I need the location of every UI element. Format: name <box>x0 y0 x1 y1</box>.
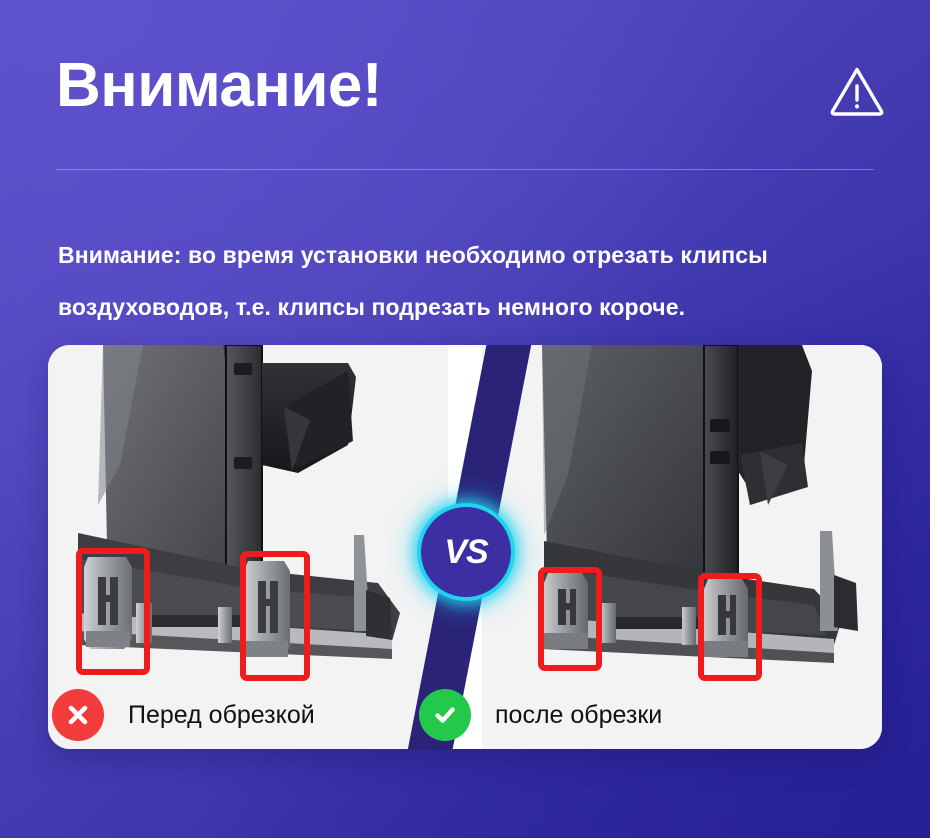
vs-label: VS <box>444 533 487 572</box>
caption-before-label: Перед обрезкой <box>128 701 315 730</box>
page-title: Внимание! <box>56 52 382 120</box>
cross-icon <box>52 689 104 741</box>
check-icon <box>419 689 471 741</box>
caption-after-label: после обрезки <box>495 701 662 730</box>
caption-after: после обрезки <box>419 689 662 741</box>
clip-highlight-box <box>76 548 150 675</box>
clip-highlight-box <box>538 567 602 671</box>
caption-before: Перед обрезкой <box>52 689 315 741</box>
vs-badge: VS <box>417 503 515 601</box>
clip-highlight-box <box>240 551 310 681</box>
clip-highlight-box <box>698 573 762 681</box>
poster-header: Внимание! <box>0 0 930 170</box>
warning-poster: Внимание! Внимание: во время установки н… <box>0 0 930 838</box>
warning-triangle-icon <box>828 62 886 120</box>
header-divider <box>56 169 874 170</box>
instruction-text: Внимание: во время установки необходимо … <box>58 229 888 333</box>
